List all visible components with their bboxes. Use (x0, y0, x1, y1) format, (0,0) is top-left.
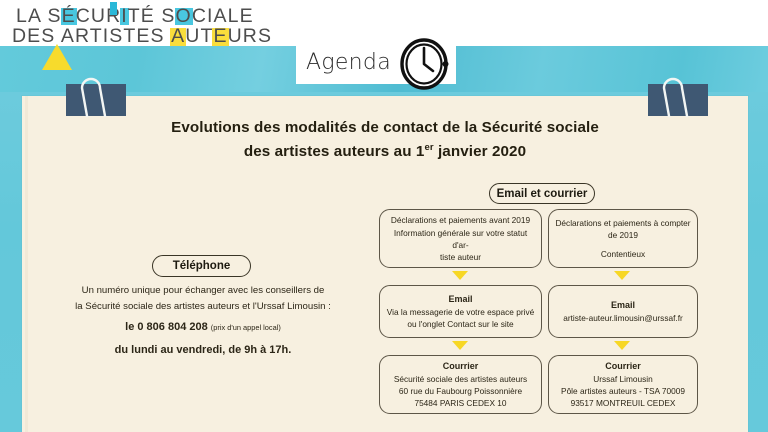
telephone-number-row: le 0 806 804 208 (prix d'un appel local) (48, 319, 358, 337)
page-title-line-2-after: janvier 2020 (434, 143, 527, 160)
courrier-line-3: 75484 PARIS CEDEX 10 (414, 397, 506, 409)
clock-icon (398, 38, 450, 90)
telephone-intro-line-2: la Sécurité sociale des artistes auteurs… (48, 299, 358, 315)
arrow-down-icon (452, 271, 468, 280)
email-courrier-pill: Email et courrier (489, 183, 595, 204)
courrier-line-2: 60 rue du Faubourg Poissonnière (399, 385, 522, 397)
courrier-box-column-1: Courrier Sécurité sociale des artistes a… (379, 355, 542, 414)
telephone-cost-note: (prix d'un appel local) (211, 323, 281, 332)
page-title-line-2-before: des artistes auteurs au 1 (244, 143, 425, 160)
scope-line-2: Information générale sur votre statut d'… (386, 227, 535, 251)
page-title-ordinal: er (424, 142, 433, 153)
page-title-line-2: des artistes auteurs au 1er janvier 2020 (90, 140, 680, 164)
telephone-pill: Téléphone (152, 255, 251, 277)
scope-box-column-1: Déclarations et paiements avant 2019 Inf… (379, 209, 542, 268)
courrier-line-1: Urssaf Limousin (593, 373, 652, 385)
email-heading: Email (448, 293, 472, 307)
email-box-column-2: Email artiste-auteur.limousin@urssaf.fr (548, 285, 698, 338)
page-title-line-1: Evolutions des modalités de contact de l… (90, 116, 680, 140)
email-box-column-1: Email Via la messagerie de votre espace … (379, 285, 542, 338)
brand-line-2: DES ARTISTES AUTEURS (12, 26, 272, 46)
email-address: artiste-auteur.limousin@urssaf.fr (563, 312, 683, 324)
courrier-line-2: Pôle artistes auteurs - TSA 70009 (561, 385, 685, 397)
arrow-down-icon (614, 341, 630, 350)
courrier-line-1: Sécurité sociale des artistes auteurs (394, 373, 527, 385)
scope-line-1: Déclarations et paiements à compter (555, 217, 690, 229)
telephone-intro-line-1: Un numéro unique pour échanger avec les … (48, 283, 358, 299)
slide-canvas: LA SÉCURITÉ SOCIALE DES ARTISTES AUTEURS… (0, 0, 768, 432)
courrier-heading: Courrier (443, 360, 479, 374)
email-heading: Email (611, 299, 635, 313)
telephone-number: le 0 806 804 208 (125, 321, 208, 333)
scope-box-column-2: Déclarations et paiements à compter de 2… (548, 209, 698, 268)
paper-edge (25, 96, 28, 432)
courrier-line-3: 93517 MONTREUIL CEDEX (571, 397, 676, 409)
scope-line-1: Déclarations et paiements avant 2019 (391, 214, 530, 226)
scope-line-3: Contentieux (601, 248, 645, 260)
arrow-down-icon (614, 271, 630, 280)
email-line-2: ou l'onglet Contact sur le site (407, 318, 513, 330)
telephone-hours: du lundi au vendredi, de 9h à 17h. (48, 342, 358, 360)
scope-line-2: de 2019 (608, 229, 638, 241)
scope-line-3: tiste auteur (440, 251, 481, 263)
telephone-block: Un numéro unique pour échanger avec les … (48, 283, 358, 360)
brand-line-1: LA SÉCURITÉ SOCIALE (16, 6, 272, 26)
courrier-box-column-2: Courrier Urssaf Limousin Pôle artistes a… (548, 355, 698, 414)
logo-tick-accent (110, 2, 117, 15)
brand-logo: LA SÉCURITÉ SOCIALE DES ARTISTES AUTEURS (12, 6, 272, 47)
agenda-label: Agenda (306, 50, 391, 75)
courrier-heading: Courrier (605, 360, 641, 374)
email-line-1: Via la messagerie de votre espace privé (387, 306, 534, 318)
page-title: Evolutions des modalités de contact de l… (90, 116, 680, 163)
arrow-down-icon (452, 341, 468, 350)
